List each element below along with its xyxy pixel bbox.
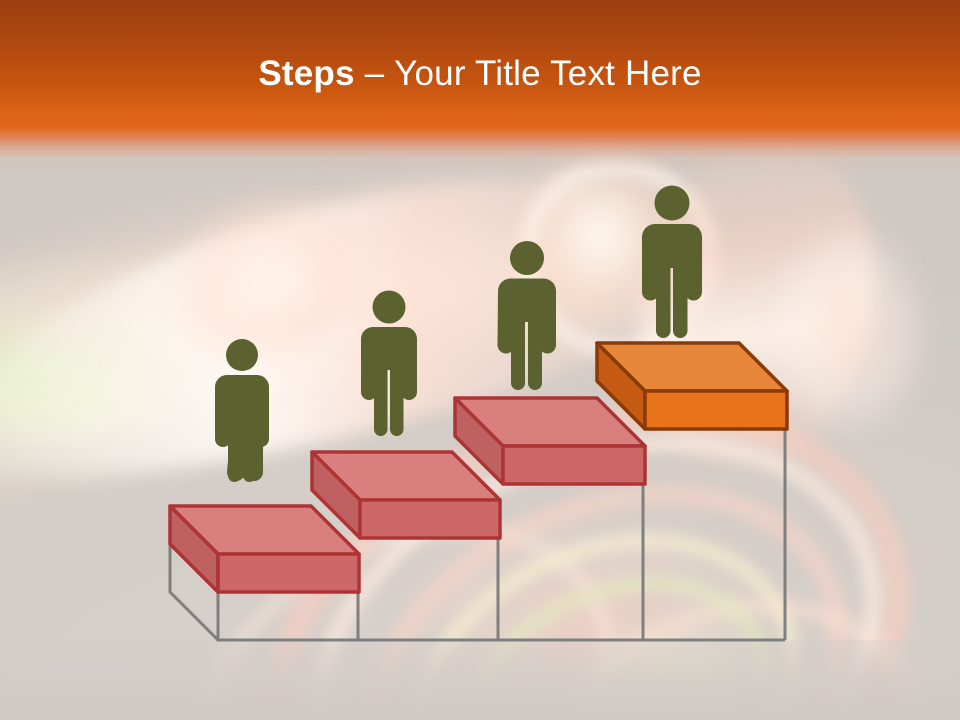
steps-diagram-svg: [0, 0, 960, 720]
step-block-2[interactable]: [312, 452, 500, 538]
slide-canvas: Steps – Your Title Text Here: [0, 0, 960, 720]
figure-person-4: [642, 186, 702, 339]
figure-person-3: [498, 241, 557, 390]
figure-person-2: [361, 291, 417, 437]
step-block-4[interactable]: [597, 343, 787, 429]
figure-person-1: [215, 339, 269, 482]
wireframe-column-4: [643, 394, 785, 640]
steps-diagram: [0, 0, 960, 720]
step-block-3[interactable]: [455, 398, 645, 484]
step-block-1[interactable]: [170, 506, 359, 592]
